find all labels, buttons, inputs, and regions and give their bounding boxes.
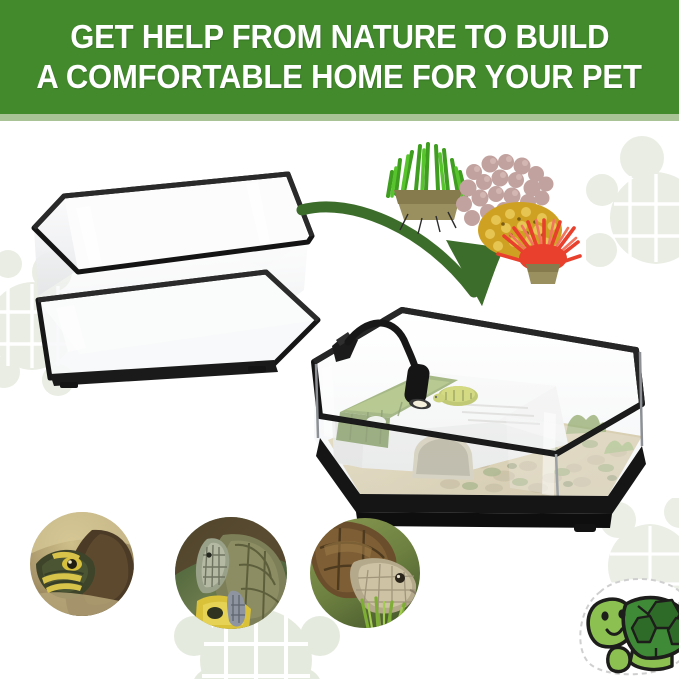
- decoration-plants-group: [378, 138, 582, 290]
- header-banner: GET HELP FROM NATURE TO BUILD A COMFORTA…: [0, 0, 679, 114]
- photo-slider-turtle: [175, 517, 287, 629]
- turtle-watermark-right-top: [586, 132, 679, 272]
- banner-underline: [0, 114, 679, 121]
- banner-line-2: A COMFORTABLE HOME FOR YOUR PET: [37, 57, 642, 97]
- empty-glass-tank: [16, 168, 326, 394]
- photo-tortoise: [310, 518, 420, 628]
- photo-turtle-head-closeup: [30, 512, 134, 616]
- banner-line-1: GET HELP FROM NATURE TO BUILD: [70, 17, 609, 57]
- infographic-page: GET HELP FROM NATURE TO BUILD A COMFORTA…: [0, 0, 679, 679]
- green-grass-plant: [388, 144, 466, 234]
- cartoon-turtle-sticker: [560, 572, 679, 679]
